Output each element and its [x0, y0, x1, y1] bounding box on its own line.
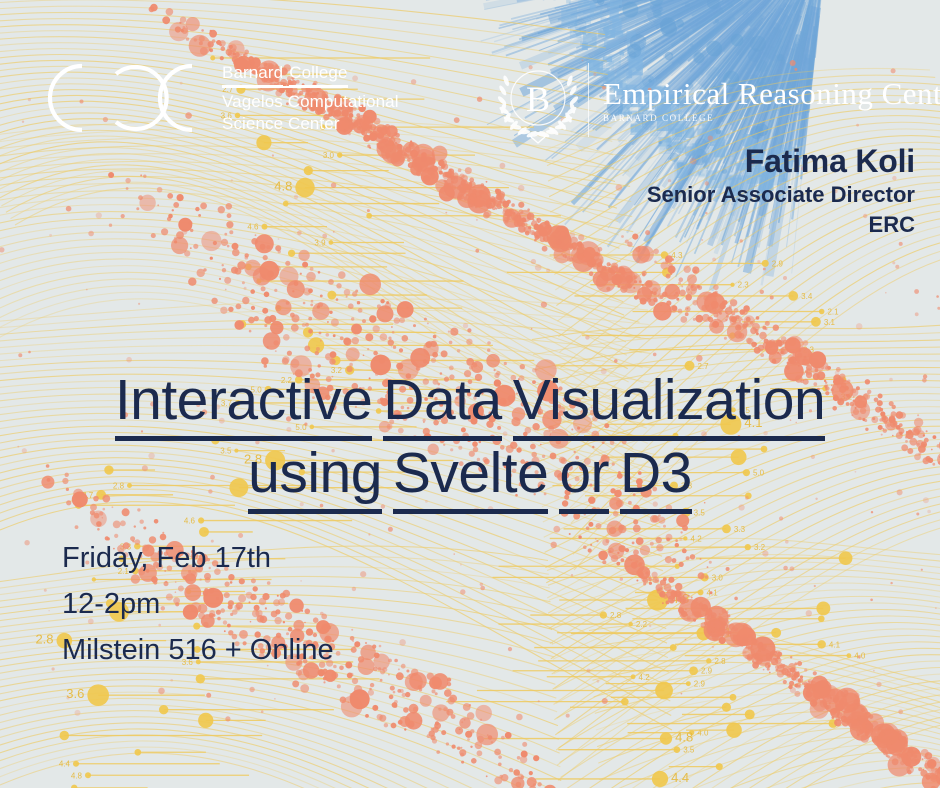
svg-text:4.1: 4.1: [829, 640, 841, 649]
csc-center-line-2: Science Center: [222, 114, 340, 133]
svg-text:2.3: 2.3: [803, 346, 815, 355]
event-details: Friday, Feb 17th 12-2pm Milstein 516 + O…: [62, 535, 334, 673]
svg-text:4.6: 4.6: [247, 223, 259, 232]
svg-text:3.2: 3.2: [754, 543, 766, 552]
erc-logo: B Empirical Reasoning Center BARNARD COL…: [492, 54, 940, 146]
svg-text:3.3: 3.3: [734, 525, 746, 534]
svg-text:4.0: 4.0: [697, 729, 709, 738]
csc-logo: [36, 52, 196, 144]
csc-institution: BarnardCollege: [222, 62, 348, 88]
svg-text:4.6: 4.6: [184, 517, 196, 526]
svg-text:3.6: 3.6: [66, 686, 84, 701]
csc-wordmark: BarnardCollege Vagelos Computational Sci…: [222, 62, 462, 135]
erc-title: Empirical Reasoning Center: [603, 77, 940, 111]
svg-text:2.3: 2.3: [738, 281, 750, 290]
event-title-line-1: InteractiveDataVisualization: [0, 368, 940, 441]
event-title-line-1-word-2: Data: [383, 368, 501, 441]
svg-text:4.8: 4.8: [675, 730, 693, 745]
svg-text:4.2: 4.2: [639, 673, 651, 682]
event-title-line-1-word-1: Interactive: [115, 368, 372, 441]
speaker-organization: ERC: [647, 210, 915, 240]
event-location: Milstein 516 + Online: [62, 627, 334, 673]
event-title-line-2-word-2: Svelte: [393, 441, 548, 514]
svg-text:2.8: 2.8: [35, 632, 53, 647]
svg-text:4.8: 4.8: [71, 771, 83, 780]
event-time: 12-2pm: [62, 581, 334, 627]
svg-text:4.4: 4.4: [59, 760, 71, 769]
svg-text:2.9: 2.9: [694, 680, 706, 689]
svg-text:3.5: 3.5: [683, 746, 695, 755]
csc-arc-1: [50, 66, 82, 130]
svg-text:3.9: 3.9: [314, 238, 326, 247]
event-title-line-2: usingSvelteorD3: [0, 441, 940, 514]
svg-text:3.1: 3.1: [713, 624, 731, 639]
svg-text:4.0: 4.0: [854, 652, 866, 661]
svg-text:3.0: 3.0: [323, 151, 335, 160]
speaker-name: Fatima Koli: [647, 142, 915, 180]
svg-text:4.8: 4.8: [274, 179, 292, 194]
erc-seal-letter: B: [526, 79, 550, 119]
event-date: Friday, Feb 17th: [62, 535, 334, 581]
event-title-line-2-word-3: or: [559, 441, 609, 514]
laurel-wreath-icon: B: [492, 54, 584, 146]
svg-text:3.1: 3.1: [824, 318, 836, 327]
svg-text:2.9: 2.9: [701, 667, 713, 676]
speaker-role: Senior Associate Director: [647, 180, 915, 210]
svg-text:4.1: 4.1: [707, 588, 719, 597]
event-poster: 2.73.63.04.84.63.93.22.25.03.75.03.52.82…: [0, 0, 940, 788]
csc-institution-word-2: College: [289, 62, 347, 87]
svg-text:3.0: 3.0: [712, 573, 724, 582]
svg-text:2.9: 2.9: [772, 259, 784, 268]
svg-text:4.2: 4.2: [691, 534, 703, 543]
svg-text:2.1: 2.1: [827, 308, 839, 317]
event-title-line-1-word-3: Visualization: [513, 368, 825, 441]
svg-text:2.8: 2.8: [714, 657, 726, 666]
event-title-line-2-word-1: using: [248, 441, 382, 514]
svg-text:2.2: 2.2: [636, 620, 648, 629]
erc-divider: [588, 63, 589, 137]
event-title: InteractiveDataVisualization usingSvelte…: [0, 368, 940, 514]
event-title-line-2-word-4: D3: [620, 441, 692, 514]
svg-text:3.4: 3.4: [801, 292, 813, 301]
erc-subtitle: BARNARD COLLEGE: [603, 113, 940, 123]
speaker-block: Fatima Koli Senior Associate Director ER…: [647, 142, 915, 240]
svg-text:2.8: 2.8: [610, 611, 622, 620]
csc-center-line-1: Vagelos Computational: [222, 92, 399, 111]
svg-text:4.3: 4.3: [671, 251, 683, 260]
svg-text:4.8: 4.8: [671, 591, 689, 606]
csc-institution-word-1: Barnard: [222, 62, 283, 87]
svg-text:4.4: 4.4: [671, 770, 689, 785]
